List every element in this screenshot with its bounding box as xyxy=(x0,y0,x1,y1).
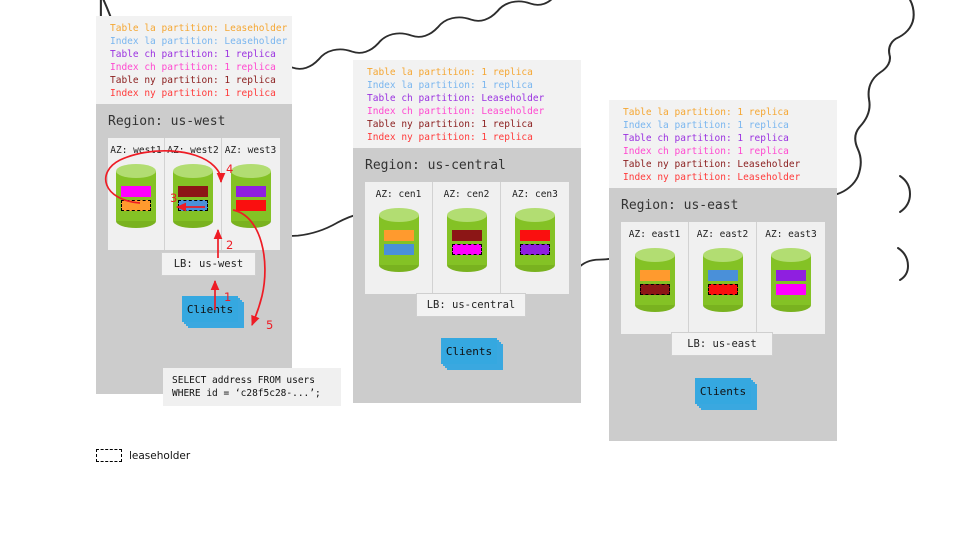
database-cylinder-icon xyxy=(447,208,487,272)
partition-replica-bars xyxy=(703,270,743,295)
cylinder-top xyxy=(116,164,156,178)
config-list-us-east: Table la partition: 1 replicaIndex la pa… xyxy=(609,100,837,188)
az-row: AZ: cen1AZ: cen2AZ: cen3 xyxy=(365,182,569,294)
config-row: Table la partition: 1 replica xyxy=(623,106,827,119)
database-cylinder-icon xyxy=(635,248,675,312)
database-cylinder-icon xyxy=(515,208,555,272)
az-label: AZ: cen3 xyxy=(512,189,558,200)
config-row: Index ch partition: 1 replica xyxy=(110,61,282,74)
az-east2[interactable]: AZ: east2 xyxy=(689,222,757,334)
partition-replica-bars xyxy=(379,230,419,255)
cylinder-top xyxy=(173,164,213,178)
clients-us-west[interactable]: Clients xyxy=(182,296,244,328)
az-row: AZ: east1AZ: east2AZ: east3 xyxy=(621,222,825,334)
sql-query-box: SELECT address FROM users WHERE id = ‘c2… xyxy=(163,368,341,406)
replica-bar xyxy=(708,270,738,281)
region-us-west: Table la partition: LeaseholderIndex la … xyxy=(96,16,292,394)
config-row: Table ch partition: 1 replica xyxy=(110,48,282,61)
clients-us-central[interactable]: Clients xyxy=(441,338,503,370)
cylinder-top xyxy=(379,208,419,222)
config-row: Index la partition: Leaseholder xyxy=(110,35,282,48)
region-body-us-west: Region: us-west AZ: west1AZ: west2AZ: we… xyxy=(96,104,292,394)
az-label: AZ: east2 xyxy=(697,229,748,240)
region-us-east: Table la partition: 1 replicaIndex la pa… xyxy=(609,100,837,441)
replica-bar-leaseholder xyxy=(452,244,482,255)
config-row: Index la partition: 1 replica xyxy=(623,119,827,132)
config-row: Index ch partition: 1 replica xyxy=(623,145,827,158)
clients-label: Clients xyxy=(441,338,497,364)
cylinder-top xyxy=(447,208,487,222)
config-list-us-west: Table la partition: LeaseholderIndex la … xyxy=(96,16,292,104)
region-us-central: Table la partition: 1 replicaIndex la pa… xyxy=(353,60,581,403)
config-row: Index ny partition: Leaseholder xyxy=(623,171,827,184)
partition-replica-bars xyxy=(447,230,487,255)
replica-bar xyxy=(452,230,482,241)
replica-bar xyxy=(776,284,806,295)
database-cylinder-icon xyxy=(116,164,156,228)
replica-bar-leaseholder xyxy=(178,200,208,211)
config-row: Table ch partition: Leaseholder xyxy=(367,92,571,105)
database-cylinder-icon xyxy=(379,208,419,272)
cylinder-top xyxy=(635,248,675,262)
config-row: Table la partition: Leaseholder xyxy=(110,22,282,35)
az-label: AZ: west3 xyxy=(225,145,276,156)
load-balancer-us-east[interactable]: LB: us-east xyxy=(671,332,773,356)
config-row: Table ny partition: 1 replica xyxy=(367,118,571,131)
partition-replica-bars xyxy=(515,230,555,255)
partition-replica-bars xyxy=(231,186,271,211)
config-row: Index ny partition: 1 replica xyxy=(367,131,571,144)
region-body-us-central: Region: us-central AZ: cen1AZ: cen2AZ: c… xyxy=(353,148,581,403)
az-cen1[interactable]: AZ: cen1 xyxy=(365,182,433,294)
config-row: Table la partition: 1 replica xyxy=(367,66,571,79)
config-list-us-central: Table la partition: 1 replicaIndex la pa… xyxy=(353,60,581,148)
replica-bar-leaseholder xyxy=(640,284,670,295)
config-row: Table ch partition: 1 replica xyxy=(623,132,827,145)
flow-step-5: 5 xyxy=(266,318,273,332)
database-cylinder-icon xyxy=(771,248,811,312)
replica-bar xyxy=(520,230,550,241)
flow-step-2: 2 xyxy=(226,238,233,252)
replica-bar xyxy=(384,244,414,255)
sql-line-2: WHERE id = ‘c28f5c28-...’; xyxy=(172,388,321,399)
az-west3[interactable]: AZ: west3 xyxy=(222,138,279,250)
flow-step-1: 1 xyxy=(224,290,231,304)
config-row: Table ny partition: Leaseholder xyxy=(623,158,827,171)
region-body-us-east: Region: us-east AZ: east1AZ: east2AZ: ea… xyxy=(609,188,837,441)
load-balancer-us-west[interactable]: LB: us-west xyxy=(161,252,256,276)
config-row: Index ch partition: Leaseholder xyxy=(367,105,571,118)
flow-step-3: 3 xyxy=(170,191,177,205)
cylinder-top xyxy=(771,248,811,262)
region-title: Region: us-east xyxy=(609,188,837,213)
replica-bar xyxy=(178,186,208,197)
partition-replica-bars xyxy=(635,270,675,295)
region-title: Region: us-central xyxy=(353,148,581,173)
az-label: AZ: cen2 xyxy=(444,189,490,200)
az-label: AZ: west1 xyxy=(110,145,161,156)
replica-bar xyxy=(776,270,806,281)
diagram-canvas: Table la partition: LeaseholderIndex la … xyxy=(0,0,960,540)
config-row: Index la partition: 1 replica xyxy=(367,79,571,92)
az-label: AZ: east1 xyxy=(629,229,680,240)
region-title: Region: us-west xyxy=(96,104,292,129)
replica-bar xyxy=(236,186,266,197)
replica-bar xyxy=(640,270,670,281)
cylinder-top xyxy=(515,208,555,222)
load-balancer-us-central[interactable]: LB: us-central xyxy=(416,293,526,317)
sql-line-1: SELECT address FROM users xyxy=(172,375,315,386)
config-row: Table ny partition: 1 replica xyxy=(110,74,282,87)
legend-label: leaseholder xyxy=(129,450,190,462)
clients-us-east[interactable]: Clients xyxy=(695,378,757,410)
az-label: AZ: cen1 xyxy=(376,189,422,200)
cylinder-top xyxy=(703,248,743,262)
partition-replica-bars xyxy=(116,186,156,211)
az-label: AZ: west2 xyxy=(167,145,218,156)
config-row: Index ny partition: 1 replica xyxy=(110,87,282,100)
database-cylinder-icon xyxy=(703,248,743,312)
replica-bar-leaseholder xyxy=(520,244,550,255)
az-east3[interactable]: AZ: east3 xyxy=(757,222,825,334)
az-cen3[interactable]: AZ: cen3 xyxy=(501,182,569,294)
partition-replica-bars xyxy=(173,186,213,211)
database-cylinder-icon xyxy=(173,164,213,228)
clients-label: Clients xyxy=(695,378,751,404)
az-west1[interactable]: AZ: west1 xyxy=(108,138,165,250)
legend-leaseholder: leaseholder xyxy=(96,449,190,462)
cylinder-top xyxy=(231,164,271,178)
az-east1[interactable]: AZ: east1 xyxy=(621,222,689,334)
flow-step-4: 4 xyxy=(226,162,233,176)
replica-bar-leaseholder xyxy=(708,284,738,295)
database-cylinder-icon xyxy=(231,164,271,228)
leaseholder-swatch-icon xyxy=(96,449,122,462)
replica-bar xyxy=(236,200,266,211)
az-label: AZ: east3 xyxy=(765,229,816,240)
az-cen2[interactable]: AZ: cen2 xyxy=(433,182,501,294)
replica-bar xyxy=(121,186,151,197)
partition-replica-bars xyxy=(771,270,811,295)
replica-bar xyxy=(384,230,414,241)
az-row: AZ: west1AZ: west2AZ: west3 xyxy=(108,138,280,250)
replica-bar-leaseholder xyxy=(121,200,151,211)
